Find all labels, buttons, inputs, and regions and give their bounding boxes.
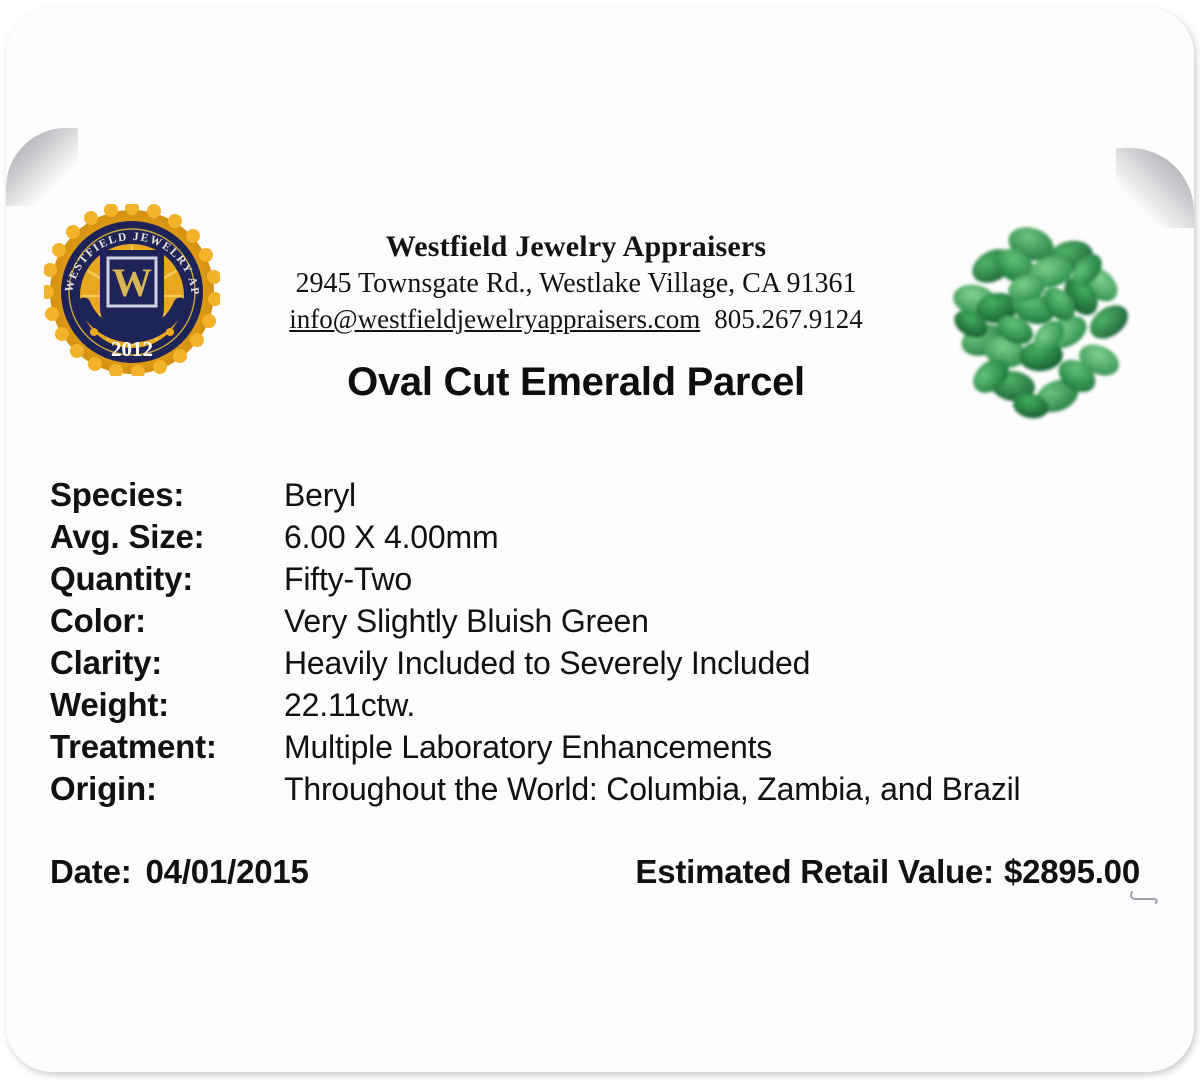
spec-value: Very Slightly Bluish Green: [284, 603, 649, 640]
retail-value-amount: $2895.00: [1004, 853, 1140, 890]
appraisal-certificate-page: WESTFIELD JEWELRY APPRAISERS: [0, 0, 1200, 1080]
appraisal-date: Date:04/01/2015: [50, 853, 309, 891]
company-phone: 805.267.9124: [714, 304, 863, 334]
date-label: Date:: [50, 853, 132, 890]
spec-label: Color:: [50, 602, 284, 640]
spec-value: Heavily Included to Severely Included: [284, 645, 810, 682]
spec-row: Weight: 22.11ctw.: [50, 686, 1160, 728]
certificate-footer: Date:04/01/2015 Estimated Retail Value:$…: [50, 853, 1140, 891]
spec-label: Clarity:: [50, 644, 284, 682]
scan-pen-mark: [1128, 888, 1162, 906]
spec-row: Quantity: Fifty-Two: [50, 560, 1160, 602]
gemstone-spec-list: Species: Beryl Avg. Size: 6.00 X 4.00mm …: [50, 476, 1160, 812]
spec-value: Throughout the World: Columbia, Zambia, …: [284, 771, 1020, 808]
company-address: 2945 Townsgate Rd., Westlake Village, CA…: [206, 267, 946, 301]
company-email-link[interactable]: info@westfieldjewelryappraisers.com: [289, 304, 700, 334]
document-title: Oval Cut Emerald Parcel: [206, 360, 946, 405]
letterhead: Westfield Jewelry Appraisers 2945 Townsg…: [206, 230, 946, 336]
company-contact-line: info@westfieldjewelryappraisers.com805.2…: [206, 303, 946, 335]
svg-text:2012: 2012: [111, 337, 153, 361]
company-seal-logo: WESTFIELD JEWELRY APPRAISERS: [44, 204, 220, 376]
spec-label: Species:: [50, 476, 284, 514]
spec-value: 6.00 X 4.00mm: [284, 519, 498, 556]
spec-row: Origin: Throughout the World: Columbia, …: [50, 770, 1160, 812]
spec-row: Treatment: Multiple Laboratory Enhanceme…: [50, 728, 1160, 770]
certificate-card: WESTFIELD JEWELRY APPRAISERS: [6, 8, 1194, 1072]
card-corner-shadow-top-left: [6, 128, 78, 206]
spec-row: Color: Very Slightly Bluish Green: [50, 602, 1160, 644]
spec-label: Weight:: [50, 686, 284, 724]
gemstone-parcel-photo: [931, 204, 1143, 444]
date-value: 04/01/2015: [146, 853, 309, 890]
svg-text:W: W: [112, 260, 152, 305]
spec-label: Treatment:: [50, 728, 284, 766]
spec-value: Fifty-Two: [284, 561, 412, 598]
spec-value: Beryl: [284, 477, 356, 514]
spec-value: Multiple Laboratory Enhancements: [284, 729, 772, 766]
spec-label: Quantity:: [50, 560, 284, 598]
spec-label: Origin:: [50, 770, 284, 808]
estimated-retail-value: Estimated Retail Value:$2895.00: [635, 853, 1140, 891]
spec-row: Clarity: Heavily Included to Severely In…: [50, 644, 1160, 686]
spec-row: Avg. Size: 6.00 X 4.00mm: [50, 518, 1160, 560]
spec-value: 22.11ctw.: [284, 687, 415, 724]
spec-row: Species: Beryl: [50, 476, 1160, 518]
company-name: Westfield Jewelry Appraisers: [206, 230, 946, 264]
retail-value-label: Estimated Retail Value:: [635, 853, 994, 890]
spec-label: Avg. Size:: [50, 518, 284, 556]
